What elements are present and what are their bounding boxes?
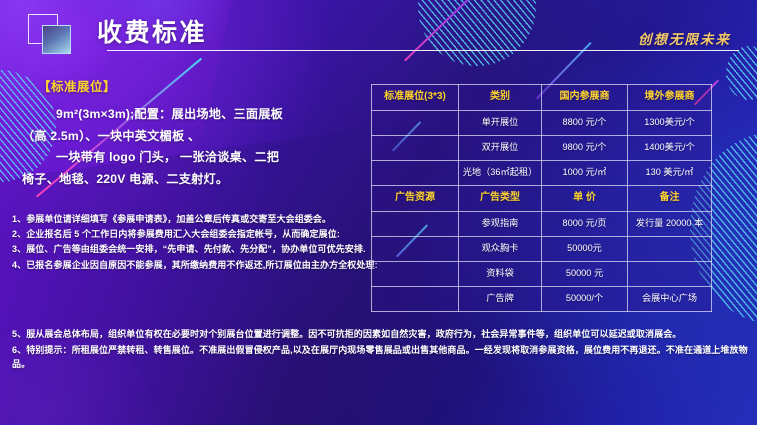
table-header-cell: 备注 bbox=[628, 186, 712, 212]
table-cell: 50000元 bbox=[542, 237, 628, 262]
ad-section-header-row: 广告资源 广告类型 单 价 备注 bbox=[372, 186, 712, 212]
table-cell: 1300美元/个 bbox=[628, 111, 712, 136]
table-cell: 8000 元/页 bbox=[542, 212, 628, 237]
table-row: 观众胸卡 50000元 bbox=[372, 237, 712, 262]
standard-booth-spec: 9m²(3m×3m);配置：展出场地、三面展板 （高 2.5m）、一块中英文楣板… bbox=[0, 104, 368, 191]
table-cell: 资料袋 bbox=[459, 262, 542, 287]
table-cell: 参观指南 bbox=[459, 212, 542, 237]
table-cell: 9800 元/个 bbox=[542, 136, 628, 161]
table-cell: 130 美元/㎡ bbox=[628, 161, 712, 186]
pricing-table: 标准展位(3*3) 类别 国内参展商 境外参展商 单开展位 8800 元/个 1… bbox=[371, 84, 712, 312]
table-row: 单开展位 8800 元/个 1300美元/个 bbox=[372, 111, 712, 136]
table-cell bbox=[372, 262, 459, 287]
table-row: 参观指南 8000 元/页 发行量 20000 本 bbox=[372, 212, 712, 237]
table-cell bbox=[372, 136, 459, 161]
slide-header: 收费标准 创想无限未来 bbox=[0, 0, 757, 62]
table-cell: 1000 元/㎡ bbox=[542, 161, 628, 186]
table-header-cell: 广告资源 bbox=[372, 186, 459, 212]
table-header-cell: 国内参展商 bbox=[542, 85, 628, 111]
table-row: 光地（36㎡起租） 1000 元/㎡ 130 美元/㎡ bbox=[372, 161, 712, 186]
table-header-cell: 类别 bbox=[459, 85, 542, 111]
table-cell: 会展中心广场 bbox=[628, 287, 712, 312]
spec-line: （高 2.5m）、一块中英文楣板 、 bbox=[22, 126, 362, 148]
table-cell bbox=[628, 262, 712, 287]
note-item: 3、展位、广告等由组委会统一安排，“先申请、先付款、先分配”，协办单位可优先安排… bbox=[12, 242, 382, 256]
table-row: 双开展位 9800 元/个 1400美元/个 bbox=[372, 136, 712, 161]
spec-line: 9m²(3m×3m);配置：展出场地、三面展板 bbox=[22, 104, 362, 126]
standard-booth-heading: 【标准展位】 bbox=[38, 76, 368, 95]
table-row: 资料袋 50000 元 bbox=[372, 262, 712, 287]
table-cell bbox=[372, 212, 459, 237]
logo-square-filled bbox=[42, 25, 71, 54]
note-item: 6、特别提示：所租展位严禁转租、转售展位。不准展出假冒侵权产品,以及在展厅内现场… bbox=[12, 343, 750, 372]
table-header-cell: 境外参展商 bbox=[628, 85, 712, 111]
table-cell: 观众胸卡 bbox=[459, 237, 542, 262]
table-cell: 单开展位 bbox=[459, 111, 542, 136]
table-cell bbox=[372, 161, 459, 186]
table-cell: 广告牌 bbox=[459, 287, 542, 312]
spec-line: 椅子、地毯、220V 电源、二支射灯。 bbox=[22, 169, 362, 191]
table-header-cell: 广告类型 bbox=[459, 186, 542, 212]
table-cell: 50000 元 bbox=[542, 262, 628, 287]
table-header-row: 标准展位(3*3) 类别 国内参展商 境外参展商 bbox=[372, 85, 712, 111]
slide-canvas: 收费标准 创想无限未来 【标准展位】 9m²(3m×3m);配置：展出场地、三面… bbox=[0, 0, 757, 425]
terms-notes-narrow: 1、参展单位请详细填写《参展申请表》，加盖公章后传真或交寄至大会组委会。 2、企… bbox=[12, 212, 382, 273]
spec-line: 一块带有 logo 门头， 一张洽谈桌、二把 bbox=[22, 147, 362, 169]
slide-tagline: 创想无限未来 bbox=[638, 28, 731, 48]
table-cell: 1400美元/个 bbox=[628, 136, 712, 161]
overlapping-squares-logo-icon bbox=[28, 14, 84, 54]
note-item: 1、参展单位请详细填写《参展申请表》，加盖公章后传真或交寄至大会组委会。 bbox=[12, 212, 382, 226]
note-item: 5、服从展会总体布局，组织单位有权在必要时对个别展台位置进行调整。因不可抗拒的因… bbox=[12, 327, 750, 342]
table-cell bbox=[372, 237, 459, 262]
table-cell: 8800 元/个 bbox=[542, 111, 628, 136]
left-content-column: 【标准展位】 9m²(3m×3m);配置：展出场地、三面展板 （高 2.5m）、… bbox=[0, 76, 368, 191]
table-cell bbox=[628, 237, 712, 262]
table-cell: 发行量 20000 本 bbox=[628, 212, 712, 237]
table-cell: 50000/个 bbox=[542, 287, 628, 312]
table-header-cell: 标准展位(3*3) bbox=[372, 85, 459, 111]
table-cell: 双开展位 bbox=[459, 136, 542, 161]
table-row: 广告牌 50000/个 会展中心广场 bbox=[372, 287, 712, 312]
table-header-cell: 单 价 bbox=[542, 186, 628, 212]
note-item: 4、已报名参展企业因自原因不能参展，其所缴纳费用不作返还,所订展位由主办方全权处… bbox=[12, 258, 382, 272]
page-title: 收费标准 bbox=[97, 13, 207, 49]
note-item: 2、企业报名后 5 个工作日内将参展费用汇入大会组委会指定帐号，从而确定展位: bbox=[12, 227, 382, 241]
header-divider bbox=[107, 50, 739, 51]
table-cell: 光地（36㎡起租） bbox=[459, 161, 542, 186]
table-cell bbox=[372, 111, 459, 136]
table-cell bbox=[372, 287, 459, 312]
terms-notes-wide: 5、服从展会总体布局，组织单位有权在必要时对个别展台位置进行调整。因不可抗拒的因… bbox=[12, 327, 750, 373]
